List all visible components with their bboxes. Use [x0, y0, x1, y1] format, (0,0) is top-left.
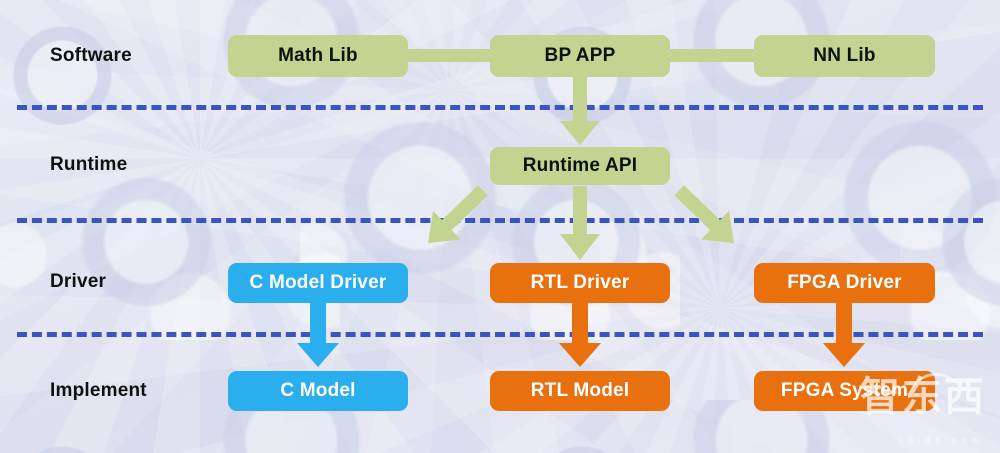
node-c-model-driver-label: C Model Driver [250, 272, 387, 294]
divider-software-runtime [17, 105, 983, 110]
row-label-driver: Driver [50, 271, 106, 293]
arrow-runtimeapi-to-cmodeldriver [386, 180, 512, 266]
node-fpga-system-label: FPGA System [781, 380, 908, 402]
node-fpga-system[interactable]: FPGA System [754, 371, 935, 411]
node-nn-lib[interactable]: NN Lib [754, 35, 935, 77]
arrow-bpapp-to-runtimeapi [556, 77, 604, 147]
node-math-lib-label: Math Lib [278, 45, 358, 67]
node-rtl-driver-label: RTL Driver [531, 272, 630, 294]
node-rtl-model[interactable]: RTL Model [490, 371, 670, 411]
row-label-software: Software [50, 45, 132, 67]
node-c-model-driver[interactable]: C Model Driver [228, 263, 408, 303]
node-nn-lib-label: NN Lib [813, 45, 875, 67]
connector-bpapp-nnlib [660, 49, 764, 62]
connector-mathlib-bpapp [398, 49, 500, 62]
arrow-cmodeldriver-to-cmodel [294, 303, 342, 369]
arrow-rtldriver-to-rtlmodel [556, 303, 604, 369]
node-runtime-api[interactable]: Runtime API [490, 147, 670, 185]
node-bp-app[interactable]: BP APP [490, 35, 670, 77]
arrow-runtimeapi-to-rtldriver [556, 186, 604, 262]
node-c-model[interactable]: C Model [228, 371, 408, 411]
node-runtime-api-label: Runtime API [523, 155, 637, 177]
architecture-diagram: Software Runtime Driver Implement Math L… [0, 0, 1000, 453]
node-c-model-label: C Model [280, 380, 355, 402]
node-rtl-model-label: RTL Model [531, 380, 630, 402]
row-label-runtime: Runtime [50, 154, 127, 176]
node-fpga-driver-label: FPGA Driver [787, 272, 901, 294]
node-fpga-driver[interactable]: FPGA Driver [754, 263, 935, 303]
node-rtl-driver[interactable]: RTL Driver [490, 263, 670, 303]
arrow-fpgadriver-to-fpgasystem [820, 303, 868, 369]
node-bp-app-label: BP APP [545, 45, 616, 67]
arrow-runtimeapi-to-fpgadriver [650, 180, 776, 266]
node-math-lib[interactable]: Math Lib [228, 35, 408, 77]
row-label-implement: Implement [50, 380, 147, 402]
